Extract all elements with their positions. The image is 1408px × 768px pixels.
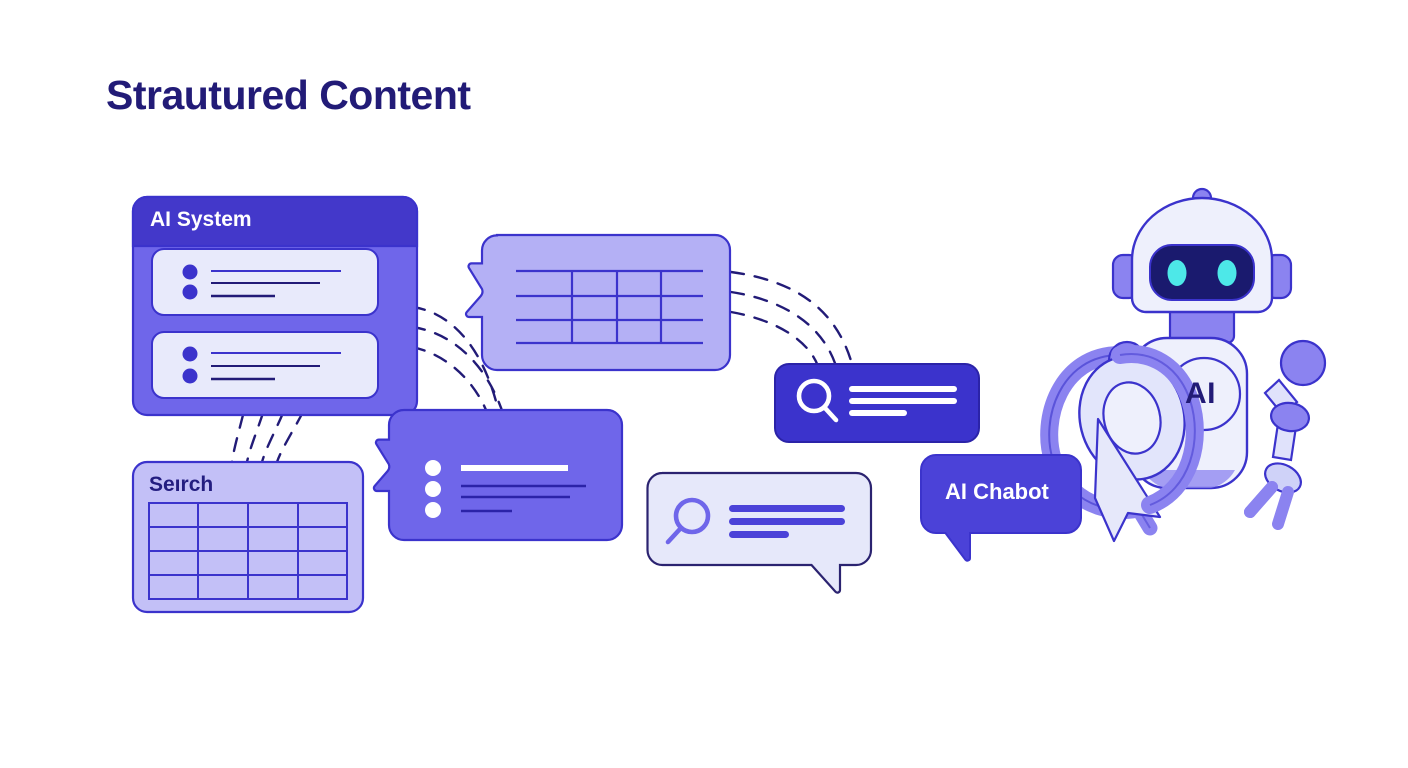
- robot-eye-left: [1168, 260, 1187, 286]
- bullet-dot: [183, 369, 198, 384]
- bullet-dot: [425, 502, 441, 518]
- bullet-bubble-shape: [374, 410, 622, 540]
- robot-ai-badge-label: AI: [1185, 377, 1216, 411]
- ai-system-card-title: AI System: [150, 208, 252, 232]
- bullet-dot: [183, 265, 198, 280]
- chatbot-bubble[interactable]: [921, 455, 1081, 561]
- search-bubble-light[interactable]: [648, 473, 872, 593]
- connector-table-bubble-to-search-card: [731, 272, 852, 366]
- text-line: [729, 531, 789, 538]
- text-line: [729, 505, 845, 512]
- bullet-dot: [425, 481, 441, 497]
- chatbot-bubble-label: AI Chabot: [945, 479, 1049, 505]
- illustration-canvas: Strautured Content: [0, 0, 1408, 768]
- bullet-list-bubble[interactable]: [374, 410, 622, 540]
- bullet-dot: [183, 347, 198, 362]
- robot-visor: [1150, 245, 1254, 300]
- bullet-dot: [425, 460, 441, 476]
- text-line: [849, 410, 907, 416]
- ai-system-list-item[interactable]: [152, 332, 378, 398]
- text-line: [729, 518, 845, 525]
- robot-eye-right: [1218, 260, 1237, 286]
- text-line: [849, 386, 957, 392]
- robot-arm-right: [1250, 341, 1325, 524]
- table-bubble-shape: [466, 235, 730, 370]
- table-bubble[interactable]: [466, 235, 730, 370]
- search-card-title: Seırch: [149, 473, 213, 497]
- search-card-dark[interactable]: [775, 364, 979, 442]
- chatbot-bubble-shape: [921, 455, 1081, 561]
- bullet-dot: [183, 285, 198, 300]
- text-line: [849, 398, 957, 404]
- ai-system-list-item[interactable]: [152, 249, 378, 315]
- ai-robot-mascot[interactable]: [1049, 189, 1325, 541]
- connector-ai-system-to-search-card: [232, 412, 303, 462]
